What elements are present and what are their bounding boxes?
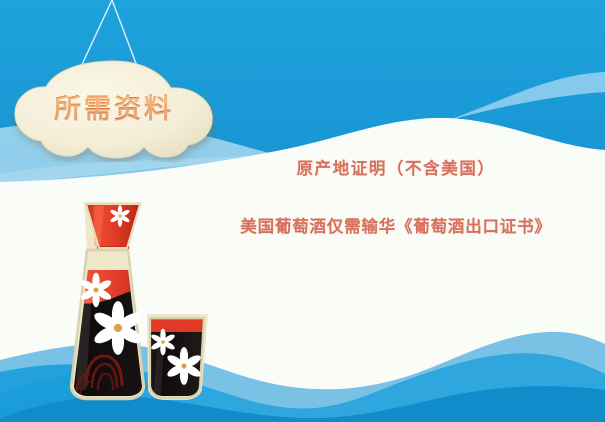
cloud-banner-label: 所需资料: [8, 57, 220, 162]
sake-illustration: [42, 190, 242, 410]
sake-cup: [142, 310, 212, 410]
sake-bottle: [62, 202, 162, 410]
body-text-line-1: 原产地证明（不含美国）: [196, 160, 596, 180]
sake-bottle-and-cup-graphic: [42, 190, 242, 410]
banner-title: 所需资料: [54, 87, 174, 126]
body-text-line-2: 美国葡萄酒仅需输华《葡萄酒出口证书》: [196, 218, 596, 238]
body-text-block: 原产地证明（不含美国） 美国葡萄酒仅需输华《葡萄酒出口证书》: [196, 160, 596, 238]
cloud-banner: 所需资料: [8, 57, 220, 162]
slide-canvas: 所需资料 原产地证明（不含美国） 美国葡萄酒仅需输华《葡萄酒出口证书》: [0, 0, 605, 422]
